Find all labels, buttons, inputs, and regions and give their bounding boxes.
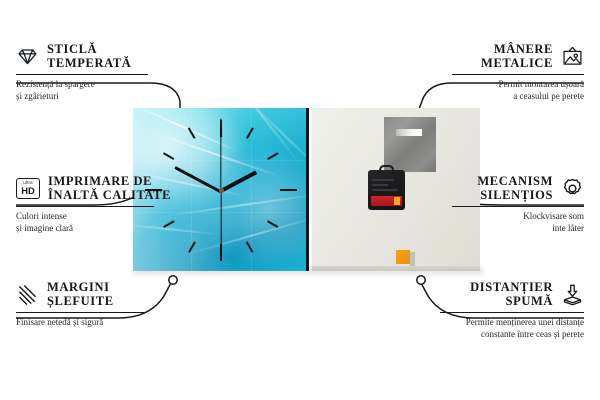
diamond-icon bbox=[16, 45, 39, 68]
feature-title-line: IMPRIMARE DE bbox=[48, 174, 171, 188]
feature-title-line: TEMPERATĂ bbox=[47, 56, 131, 70]
ultra-hd-icon: ultraHD bbox=[16, 178, 40, 199]
feature-title: MÂNERE METALICE bbox=[481, 42, 553, 70]
feature-desc-line: Rezistență la spargere bbox=[16, 79, 148, 91]
mechanism-battery bbox=[371, 196, 402, 206]
feature-description: Klockvisare som inte låter bbox=[452, 211, 584, 235]
feature-title-line: ȘLEFUITE bbox=[47, 294, 114, 308]
feature-desc-line: Culori intense bbox=[16, 211, 154, 223]
feature-description: Permit montarea ușoară a ceasului pe per… bbox=[452, 79, 584, 103]
feature-description: Finisare netedă și sigură bbox=[16, 317, 144, 329]
feature-title-line: SPUMĂ bbox=[470, 294, 553, 308]
feature-title-line: STICLĂ bbox=[47, 42, 131, 56]
connector-dot-spacer bbox=[417, 276, 425, 284]
feature-description: Permite menținerea unei distanțe constan… bbox=[440, 317, 584, 341]
feature-rule bbox=[440, 312, 584, 313]
foam-spacer-part bbox=[396, 250, 410, 264]
feature-tempered-glass: STICLĂ TEMPERATĂ Rezistență la spargere … bbox=[16, 42, 148, 103]
picture-hanger-icon bbox=[561, 45, 584, 68]
feature-description: Culori intense și imagine clară bbox=[16, 211, 154, 235]
feature-silent-mechanism: MECANISM SILENȚIOS Klockvisare som inte … bbox=[452, 174, 584, 235]
feature-desc-line: Permite menținerea unei distanțe bbox=[440, 317, 584, 329]
feature-metal-handles: MÂNERE METALICE Permit montarea ușoară a… bbox=[452, 42, 584, 103]
clock-mechanism-part bbox=[368, 170, 405, 210]
polished-edges-icon bbox=[16, 283, 39, 306]
feature-title-line: MÂNERE bbox=[481, 42, 553, 56]
feature-title: MARGINI ȘLEFUITE bbox=[47, 280, 114, 308]
feature-desc-line: și zgârieturi bbox=[16, 91, 148, 103]
feature-rule bbox=[16, 74, 148, 75]
feature-desc-line: constante între ceas și perete bbox=[440, 329, 584, 341]
clock-second-hand bbox=[220, 191, 221, 249]
feature-desc-line: Klockvisare som bbox=[452, 211, 584, 223]
press-down-icon bbox=[561, 283, 584, 306]
feature-rule bbox=[16, 206, 154, 207]
feature-foam-spacer: DISTANȚIER SPUMĂ Permite menținerea unei… bbox=[440, 280, 584, 341]
feature-rule bbox=[16, 312, 144, 313]
clock-center-cap bbox=[219, 188, 224, 193]
feature-rule bbox=[452, 74, 584, 75]
feature-polished-edges: MARGINI ȘLEFUITE Finisare netedă și sigu… bbox=[16, 280, 144, 329]
hanger-slot bbox=[396, 129, 422, 136]
feature-title-line: MARGINI bbox=[47, 280, 114, 294]
feature-title: MECANISM SILENȚIOS bbox=[477, 174, 553, 202]
feature-rule bbox=[452, 206, 584, 207]
gear-icon bbox=[561, 177, 584, 200]
feature-high-quality-print: ultraHD IMPRIMARE DE ÎNALTĂ CALITATE Cul… bbox=[16, 174, 154, 235]
feature-title-line: MECANISM bbox=[477, 174, 553, 188]
metal-hanger-part bbox=[384, 117, 436, 172]
feature-desc-line: a ceasului pe perete bbox=[452, 91, 584, 103]
feature-desc-line: Permit montarea ușoară bbox=[452, 79, 584, 91]
infographic-canvas: STICLĂ TEMPERATĂ Rezistență la spargere … bbox=[0, 0, 600, 400]
feature-desc-line: și imagine clară bbox=[16, 223, 154, 235]
feature-description: Rezistență la spargere și zgârieturi bbox=[16, 79, 148, 103]
feature-title-line: SILENȚIOS bbox=[477, 188, 553, 202]
feature-title-line: ÎNALTĂ CALITATE bbox=[48, 188, 171, 202]
feature-title: DISTANȚIER SPUMĂ bbox=[470, 280, 553, 308]
feature-title: STICLĂ TEMPERATĂ bbox=[47, 42, 131, 70]
feature-title-line: METALICE bbox=[481, 56, 553, 70]
feature-title: IMPRIMARE DE ÎNALTĂ CALITATE bbox=[48, 174, 171, 202]
battery-terminal bbox=[394, 197, 400, 205]
feature-desc-line: inte låter bbox=[452, 223, 584, 235]
feature-title-line: DISTANȚIER bbox=[470, 280, 553, 294]
mechanism-loop bbox=[379, 165, 394, 174]
feature-desc-line: Finisare netedă și sigură bbox=[16, 317, 144, 329]
connector-dot-edges bbox=[169, 276, 177, 284]
